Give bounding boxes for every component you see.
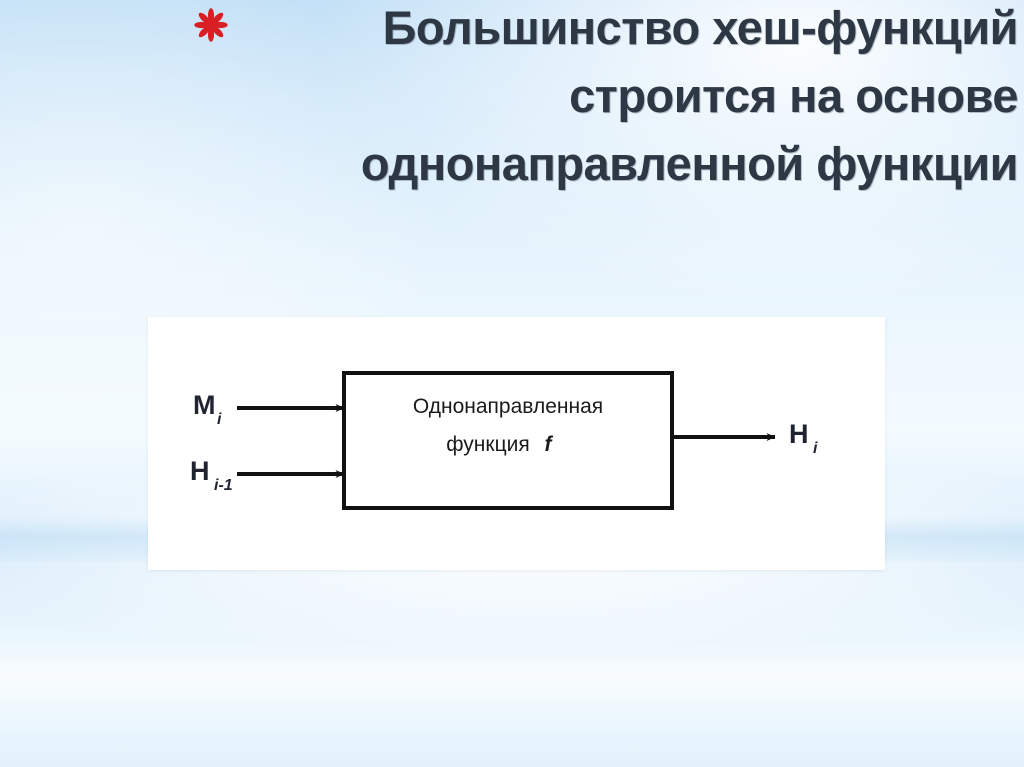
title-line-3: однонаправленной функции <box>190 138 1018 190</box>
input-label-2-base: H <box>190 456 210 486</box>
background-band-lower <box>0 640 1024 710</box>
title-line-2: строится на основе <box>190 70 1018 122</box>
diagram-panel: Однонаправленная функция f M i H i-1 H i <box>148 317 885 570</box>
slide-title: Большинство хеш-функций Большинство хеш-… <box>190 2 1018 206</box>
title-line-3-wrap: однонаправленной функции однонаправленно… <box>190 138 1018 206</box>
output-label-subscript: i <box>813 440 818 457</box>
title-line-2-wrap: строится на основе строится на основе <box>190 70 1018 138</box>
input-label-2-subscript: i-1 <box>214 477 233 494</box>
input-label-1-subscript: i <box>217 411 222 428</box>
title-line-1-wrap: Большинство хеш-функций Большинство хеш-… <box>190 2 1018 70</box>
input-label-1-base: M <box>193 390 216 420</box>
title-line-1: Большинство хеш-функций <box>190 2 1018 54</box>
output-label-base: H <box>789 419 809 449</box>
box-label-line2: функция <box>446 433 529 456</box>
hash-function-diagram: Однонаправленная функция f M i H i-1 H i <box>148 317 885 570</box>
slide-canvas: Большинство хеш-функций Большинство хеш-… <box>0 0 1024 767</box>
box-label-line1: Однонаправленная <box>413 395 603 418</box>
title-line-3-reflection: однонаправленной функции <box>190 186 1018 220</box>
